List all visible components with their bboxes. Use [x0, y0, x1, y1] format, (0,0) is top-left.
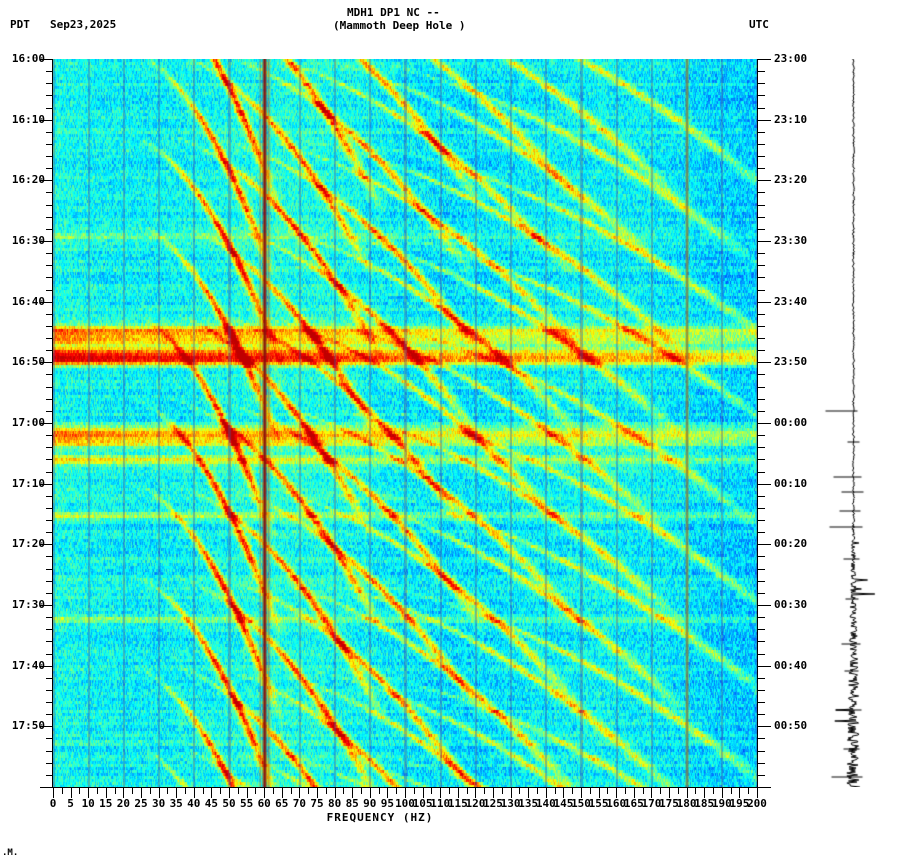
y-tick-right [758, 95, 765, 96]
y-tick-right [758, 569, 765, 570]
y-label-local-2: 16:20 [3, 173, 45, 186]
y-tick-left [46, 751, 53, 752]
x-tick [449, 788, 450, 794]
y-tick-right [758, 714, 765, 715]
y-tick-right [758, 314, 765, 315]
x-tick [431, 788, 432, 794]
y-label-utc-9: 00:30 [774, 598, 822, 611]
x-tick [519, 788, 520, 794]
y-tick-left [46, 459, 53, 460]
y-tick-left [46, 581, 53, 582]
y-tick-right [758, 168, 765, 169]
timezone-left-label: PDT [10, 18, 30, 31]
y-tick-right [758, 544, 771, 545]
y-label-local-6: 17:00 [3, 416, 45, 429]
x-tick [396, 788, 397, 794]
x-tick [660, 788, 661, 794]
y-label-local-7: 17:10 [3, 477, 45, 490]
y-tick-left [46, 641, 53, 642]
y-tick-right [758, 277, 765, 278]
y-tick-left [46, 350, 53, 351]
y-tick-right [758, 265, 765, 266]
x-tick [97, 788, 98, 794]
y-tick-left [46, 629, 53, 630]
x-tick [695, 788, 696, 794]
y-tick-left [46, 508, 53, 509]
y-tick-right [758, 520, 765, 521]
x-tick [361, 788, 362, 794]
y-label-utc-5: 23:50 [774, 355, 822, 368]
x-tick [203, 788, 204, 794]
y-label-utc-0: 23:00 [774, 52, 822, 65]
y-tick-left [46, 290, 53, 291]
y-tick-left [46, 435, 53, 436]
y-tick-left [46, 593, 53, 594]
y-tick-left [46, 95, 53, 96]
y-tick-right [758, 423, 771, 424]
y-label-utc-2: 23:20 [774, 173, 822, 186]
x-tick [414, 788, 415, 794]
x-tick [273, 788, 274, 794]
y-label-utc-8: 00:20 [774, 537, 822, 550]
y-tick-right [758, 751, 765, 752]
x-tick [308, 788, 309, 794]
x-tick [590, 788, 591, 794]
y-tick-left [46, 83, 53, 84]
y-tick-left [46, 253, 53, 254]
y-label-local-1: 16:10 [3, 113, 45, 126]
x-tick [79, 788, 80, 794]
y-tick-right [758, 472, 765, 473]
y-tick-left [46, 690, 53, 691]
seismogram-trace-panel [820, 59, 890, 787]
header-bar: PDT Sep23,2025 MDH1 DP1 NC -- (Mammoth D… [0, 0, 902, 50]
x-tick [607, 788, 608, 794]
x-tick [713, 788, 714, 794]
y-label-local-5: 16:50 [3, 355, 45, 368]
y-tick-left [46, 144, 53, 145]
x-tick [537, 788, 538, 794]
y-tick-right [758, 654, 765, 655]
y-tick-left [46, 738, 53, 739]
y-tick-right [758, 593, 765, 594]
spectrogram-plot[interactable] [53, 59, 757, 787]
y-tick-left [46, 399, 53, 400]
y-tick-left [46, 192, 53, 193]
y-tick-right [758, 241, 771, 242]
x-tick [343, 788, 344, 794]
y-tick-left [46, 277, 53, 278]
y-tick-right [758, 447, 765, 448]
y-tick-right [758, 508, 765, 509]
y-tick-right [758, 156, 765, 157]
y-label-local-0: 16:00 [3, 52, 45, 65]
x-tick [731, 788, 732, 794]
timezone-right-label: UTC [749, 18, 769, 31]
y-tick-right [758, 350, 765, 351]
y-tick-left [46, 411, 53, 412]
y-tick-right [758, 290, 765, 291]
y-tick-left [46, 132, 53, 133]
y-label-utc-4: 23:40 [774, 295, 822, 308]
y-tick-right [758, 253, 765, 254]
y-tick-left [46, 763, 53, 764]
y-tick-right [758, 690, 765, 691]
date-label: Sep23,2025 [50, 18, 116, 31]
y-tick-right [758, 302, 771, 303]
y-tick-right [758, 71, 765, 72]
y-tick-right [758, 435, 765, 436]
x-tick [326, 788, 327, 794]
y-tick-left [40, 787, 53, 788]
y-label-utc-11: 00:50 [774, 719, 822, 732]
y-label-local-3: 16:30 [3, 234, 45, 247]
y-label-utc-1: 23:10 [774, 113, 822, 126]
y-tick-left [46, 775, 53, 776]
x-tick [572, 788, 573, 794]
y-tick-right [758, 775, 765, 776]
y-tick-left [46, 71, 53, 72]
station-title-line1: MDH1 DP1 NC -- [347, 6, 440, 19]
y-tick-left [46, 387, 53, 388]
x-tick [238, 788, 239, 794]
y-label-local-8: 17:20 [3, 537, 45, 550]
y-tick-right [758, 496, 765, 497]
y-tick-left [46, 714, 53, 715]
x-axis-title: FREQUENCY (HZ) [0, 811, 760, 824]
y-tick-left [46, 654, 53, 655]
y-tick-left [46, 702, 53, 703]
y-tick-left [46, 496, 53, 497]
x-tick [502, 788, 503, 794]
seismogram-canvas [820, 59, 890, 787]
y-label-local-10: 17:40 [3, 659, 45, 672]
y-tick-left [46, 374, 53, 375]
x-label-200: 200 [742, 797, 772, 810]
y-tick-right [758, 120, 771, 121]
x-tick [291, 788, 292, 794]
y-tick-right [758, 581, 765, 582]
y-tick-right [758, 763, 765, 764]
y-tick-right [758, 59, 771, 60]
y-tick-right [758, 217, 765, 218]
x-tick [167, 788, 168, 794]
y-tick-left [46, 265, 53, 266]
x-tick [379, 788, 380, 794]
y-tick-left [46, 205, 53, 206]
y-tick-right [758, 726, 771, 727]
y-tick-left [46, 229, 53, 230]
y-label-utc-10: 00:40 [774, 659, 822, 672]
y-tick-right [758, 617, 765, 618]
y-tick-right [758, 702, 765, 703]
y-tick-right [758, 205, 765, 206]
y-tick-right [758, 629, 765, 630]
x-tick [220, 788, 221, 794]
y-tick-right [758, 326, 765, 327]
x-tick [678, 788, 679, 794]
y-tick-right [758, 229, 765, 230]
y-tick-left [46, 447, 53, 448]
x-tick [150, 788, 151, 794]
y-tick-right [758, 459, 765, 460]
y-tick-right [758, 338, 765, 339]
y-tick-right [758, 787, 771, 788]
x-tick [185, 788, 186, 794]
y-tick-right [758, 108, 765, 109]
y-tick-right [758, 144, 765, 145]
y-tick-left [46, 472, 53, 473]
y-tick-right [758, 641, 765, 642]
y-tick-left [46, 156, 53, 157]
x-tick [484, 788, 485, 794]
y-tick-right [758, 83, 765, 84]
y-tick-right [758, 132, 765, 133]
x-tick [555, 788, 556, 794]
y-tick-right [758, 605, 771, 606]
y-tick-left [46, 678, 53, 679]
y-label-local-9: 17:30 [3, 598, 45, 611]
y-tick-left [46, 338, 53, 339]
y-tick-right [758, 180, 771, 181]
y-tick-right [758, 387, 765, 388]
x-tick [115, 788, 116, 794]
y-tick-left [46, 217, 53, 218]
x-tick [255, 788, 256, 794]
y-tick-right [758, 374, 765, 375]
y-tick-left [46, 314, 53, 315]
y-label-local-11: 17:50 [3, 719, 45, 732]
y-tick-right [758, 738, 765, 739]
x-tick [643, 788, 644, 794]
y-tick-left [46, 569, 53, 570]
y-tick-left [46, 556, 53, 557]
y-tick-right [758, 362, 771, 363]
x-tick [62, 788, 63, 794]
x-tick [748, 788, 749, 794]
spectrogram-canvas [53, 59, 757, 787]
y-tick-left [46, 617, 53, 618]
x-tick [625, 788, 626, 794]
y-tick-right [758, 399, 765, 400]
y-tick-right [758, 678, 765, 679]
y-tick-right [758, 484, 771, 485]
y-label-local-4: 16:40 [3, 295, 45, 308]
y-tick-left [46, 108, 53, 109]
corner-artifact: .M. [2, 848, 18, 858]
y-tick-right [758, 411, 765, 412]
y-label-utc-7: 00:10 [774, 477, 822, 490]
x-tick [467, 788, 468, 794]
y-label-utc-3: 23:30 [774, 234, 822, 247]
station-title-line2: (Mammoth Deep Hole ) [333, 19, 465, 32]
y-tick-left [46, 326, 53, 327]
y-label-utc-6: 00:00 [774, 416, 822, 429]
y-tick-left [46, 520, 53, 521]
y-tick-left [46, 532, 53, 533]
y-tick-right [758, 532, 765, 533]
x-tick [132, 788, 133, 794]
y-tick-left [46, 168, 53, 169]
y-tick-right [758, 192, 765, 193]
y-tick-right [758, 556, 765, 557]
y-tick-right [758, 666, 771, 667]
